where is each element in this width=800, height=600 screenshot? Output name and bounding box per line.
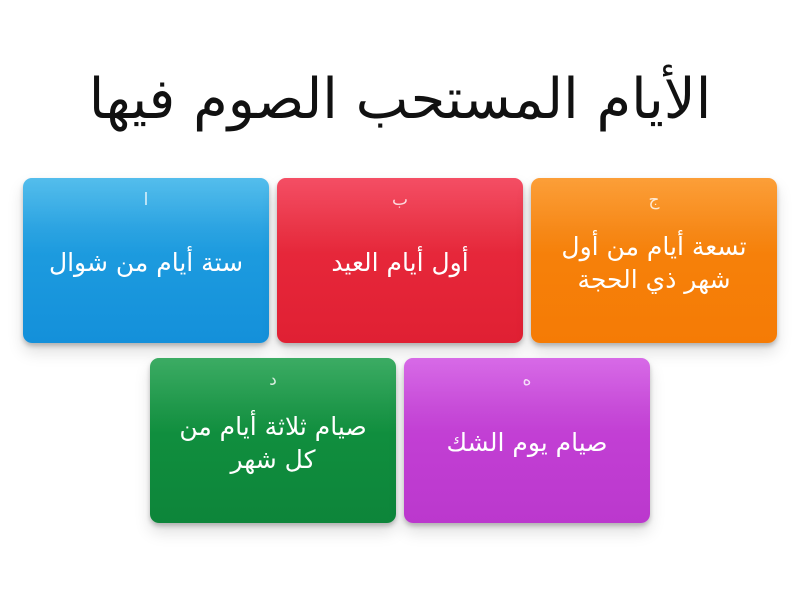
answer-card-letter: ه [523, 372, 532, 389]
answer-card-text: أول أيام العيد [327, 211, 472, 329]
page-title: الأيام المستحب الصوم فيها [89, 69, 712, 132]
answer-card-letter: ب [392, 192, 408, 209]
answer-card-alef[interactable]: ا ستة أيام من شوال [23, 178, 269, 343]
answer-card-text: ستة أيام من شوال [45, 211, 247, 329]
answer-card-letter: ج [649, 192, 660, 209]
card-row-2: د صيام ثلاثة أيام من كل شهر ه صيام يوم ا… [0, 358, 800, 523]
answer-card-letter: ا [144, 192, 149, 209]
answer-card-jeem[interactable]: ج تسعة أيام من أول شهر ذي الحجة [531, 178, 777, 343]
answer-card-haa[interactable]: ه صيام يوم الشك [404, 358, 650, 523]
quiz-canvas: الأيام المستحب الصوم فيها ا ستة أيام من … [0, 0, 800, 600]
card-row-1: ا ستة أيام من شوال ب أول أيام العيد ج تس… [0, 178, 800, 343]
answer-card-dal[interactable]: د صيام ثلاثة أيام من كل شهر [150, 358, 396, 523]
answer-card-text: صيام يوم الشك [442, 391, 611, 509]
answer-card-baa[interactable]: ب أول أيام العيد [277, 178, 523, 343]
answer-card-text: صيام ثلاثة أيام من كل شهر [164, 391, 382, 509]
answer-card-text: تسعة أيام من أول شهر ذي الحجة [545, 211, 763, 329]
title-bar: الأيام المستحب الصوم فيها [0, 44, 800, 156]
answer-card-letter: د [269, 372, 277, 389]
